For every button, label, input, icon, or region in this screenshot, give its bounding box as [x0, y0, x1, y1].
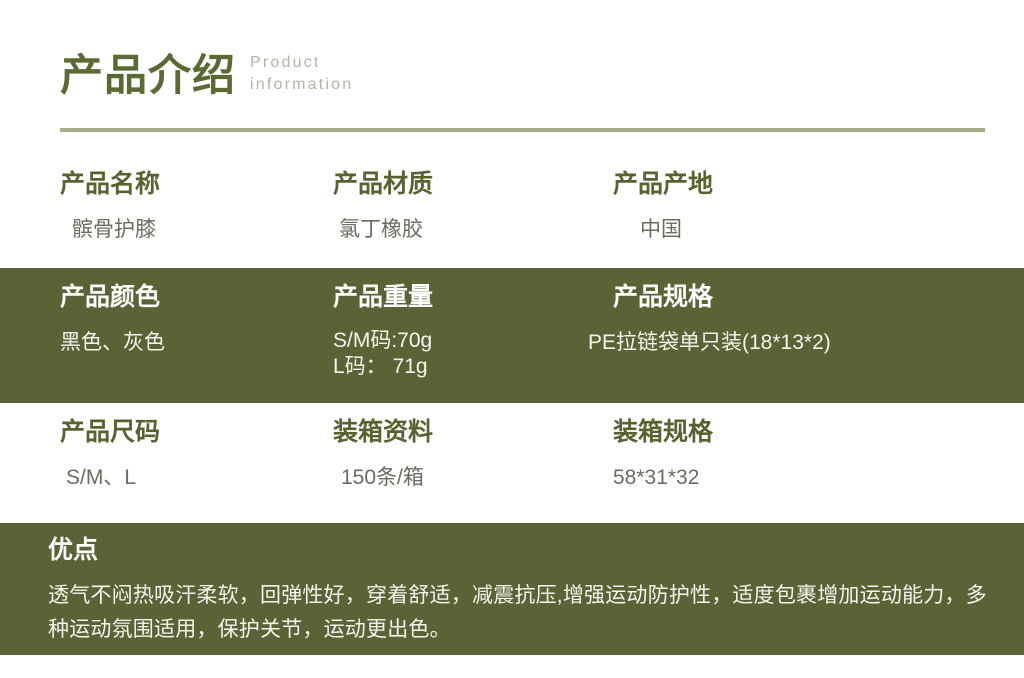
table-row: 产品名称 髌骨护膝 产品材质 氯丁橡胶 产品产地 中国: [0, 155, 1024, 268]
table-cell-carton-info: 装箱资料 150条/箱: [333, 403, 586, 521]
page-header: 产品介绍 Product information: [0, 52, 1024, 130]
product-information-page: 产品介绍 Product information 产品名称 髌骨护膝 产品材质 …: [0, 0, 1024, 678]
cell-value: 氯丁橡胶: [339, 217, 423, 243]
table-cell-product-spec: 产品规格 PE拉链袋单只装(18*13*2): [588, 268, 1008, 403]
table-cell-product-origin: 产品产地 中国: [588, 155, 1008, 268]
cell-label: 产品产地: [613, 169, 713, 199]
page-subtitle-line-2: information: [250, 74, 353, 96]
page-subtitle: Product information: [250, 52, 353, 95]
cell-value: 黑色、灰色: [60, 330, 165, 356]
page-subtitle-line-1: Product: [250, 52, 353, 74]
table-row: 产品尺码 S/M、L 装箱资料 150条/箱 装箱规格 58*31*32: [0, 403, 1024, 521]
table-cell-product-size: 产品尺码 S/M、L: [60, 403, 330, 521]
table-cell-product-weight: 产品重量 S/M码:70g L码： 71g: [333, 268, 586, 403]
cell-value: S/M、L: [66, 465, 136, 491]
cell-label: 产品颜色: [60, 282, 160, 312]
cell-value: 中国: [640, 217, 682, 243]
cell-value: 150条/箱: [341, 465, 424, 491]
advantages-text: 透气不闷热吸汗柔软，回弹性好，穿着舒适，减震抗压,增强运动防护性，适度包裹增加运…: [48, 579, 988, 647]
cell-label: 产品尺码: [60, 417, 160, 447]
table-cell-carton-spec: 装箱规格 58*31*32: [588, 403, 1008, 521]
cell-label: 产品材质: [333, 169, 433, 199]
table-cell-product-color: 产品颜色 黑色、灰色: [60, 268, 330, 403]
header-divider: [60, 128, 985, 132]
cell-value: 58*31*32: [613, 465, 699, 491]
cell-label: 装箱规格: [613, 417, 713, 447]
cell-label: 产品名称: [60, 169, 160, 199]
table-cell-product-material: 产品材质 氯丁橡胶: [333, 155, 586, 268]
cell-label: 产品重量: [333, 282, 433, 312]
table-cell-product-name: 产品名称 髌骨护膝: [60, 155, 330, 268]
cell-label: 产品规格: [613, 282, 713, 312]
table-row: 产品颜色 黑色、灰色 产品重量 S/M码:70g L码： 71g 产品规格 PE…: [0, 268, 1024, 403]
cell-label: 装箱资料: [333, 417, 433, 447]
cell-value: S/M码:70g L码： 71g: [333, 328, 432, 379]
cell-value: PE拉链袋单只装(18*13*2): [588, 330, 831, 356]
advantages-label: 优点: [48, 535, 98, 565]
header-titles: 产品介绍 Product information: [60, 52, 353, 98]
cell-value: 髌骨护膝: [72, 217, 156, 243]
page-title: 产品介绍: [60, 55, 236, 98]
advantages-band: 优点 透气不闷热吸汗柔软，回弹性好，穿着舒适，减震抗压,增强运动防护性，适度包裹…: [0, 523, 1024, 655]
